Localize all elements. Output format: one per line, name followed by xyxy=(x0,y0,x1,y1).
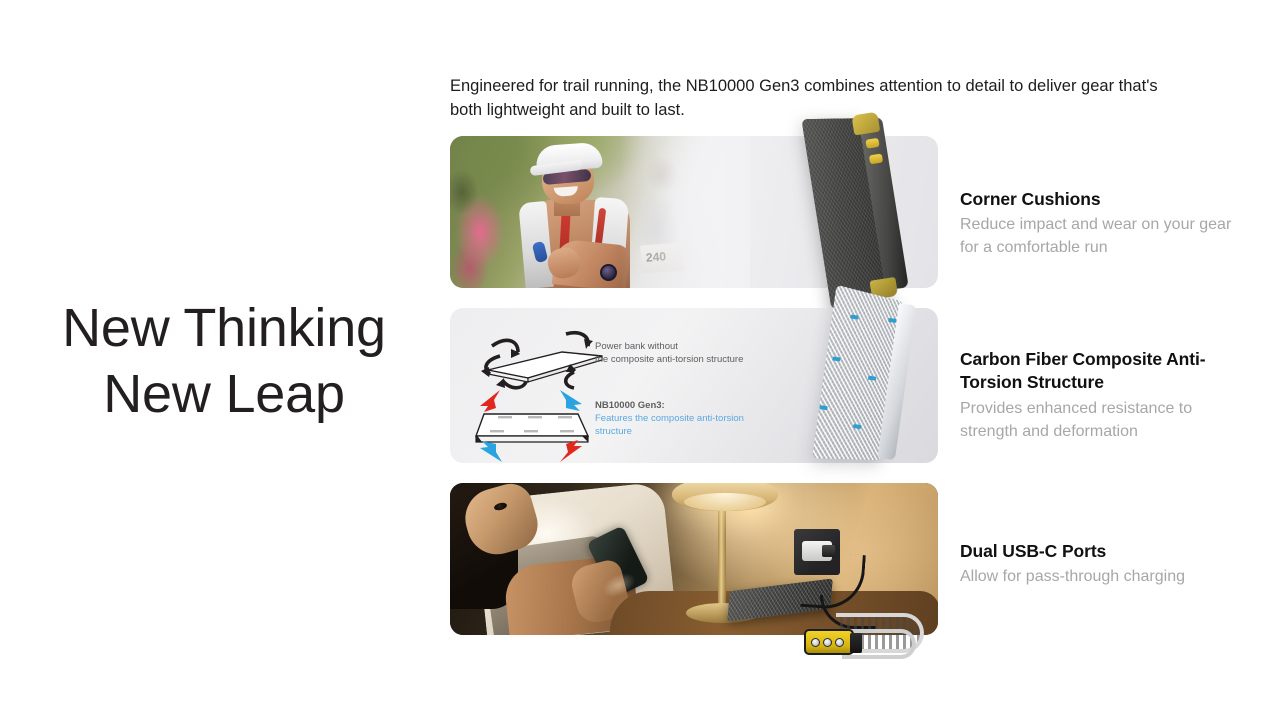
feature-image-panel-2: Power bank without the composite anti-to… xyxy=(450,308,938,463)
trail-runner-photo: 240 xyxy=(450,136,750,288)
diagram-label-without: Power bank without the composite anti-to… xyxy=(595,340,805,367)
feature-text-3: Dual USB-C Ports Allow for pass-through … xyxy=(960,540,1250,589)
feature-title: Dual USB-C Ports xyxy=(960,540,1250,563)
feature-description: Allow for pass-through charging xyxy=(960,566,1250,589)
feature-image-panel-1: 240 xyxy=(450,136,938,288)
headlamp-product-shot xyxy=(802,615,926,665)
feature-description: Reduce impact and wear on your gear for … xyxy=(960,214,1250,259)
diagram-label-with-body: Features the composite anti-torsion stru… xyxy=(595,412,795,439)
intro-paragraph: Engineered for trail running, the NB1000… xyxy=(450,74,1170,123)
feature-text-2: Carbon Fiber Composite Anti-Torsion Stru… xyxy=(960,348,1250,443)
sport-watch xyxy=(600,264,617,281)
corner-cushion-top-icon xyxy=(851,112,880,136)
feature-description: Provides enhanced resistance to strength… xyxy=(960,398,1250,443)
diagram-label-with-title: NB10000 Gen3: xyxy=(595,399,665,412)
feature-image-panel-3 xyxy=(450,483,938,635)
torsion-diagram-with-structure xyxy=(462,386,612,463)
feature-row-anti-torsion: Power bank without the composite anti-to… xyxy=(450,308,1280,463)
feature-title: Carbon Fiber Composite Anti-Torsion Stru… xyxy=(960,348,1250,395)
feature-title: Corner Cushions xyxy=(960,188,1250,211)
page-title: New Thinking New Leap xyxy=(0,296,448,428)
feature-row-dual-usb-c: Dual USB-C Ports Allow for pass-through … xyxy=(450,483,1280,635)
feature-row-corner-cushions: 240 xyxy=(450,136,1280,288)
feature-text-1: Corner Cushions Reduce impact and wear o… xyxy=(960,188,1250,260)
anti-torsion-plate-product-shot xyxy=(795,286,947,472)
